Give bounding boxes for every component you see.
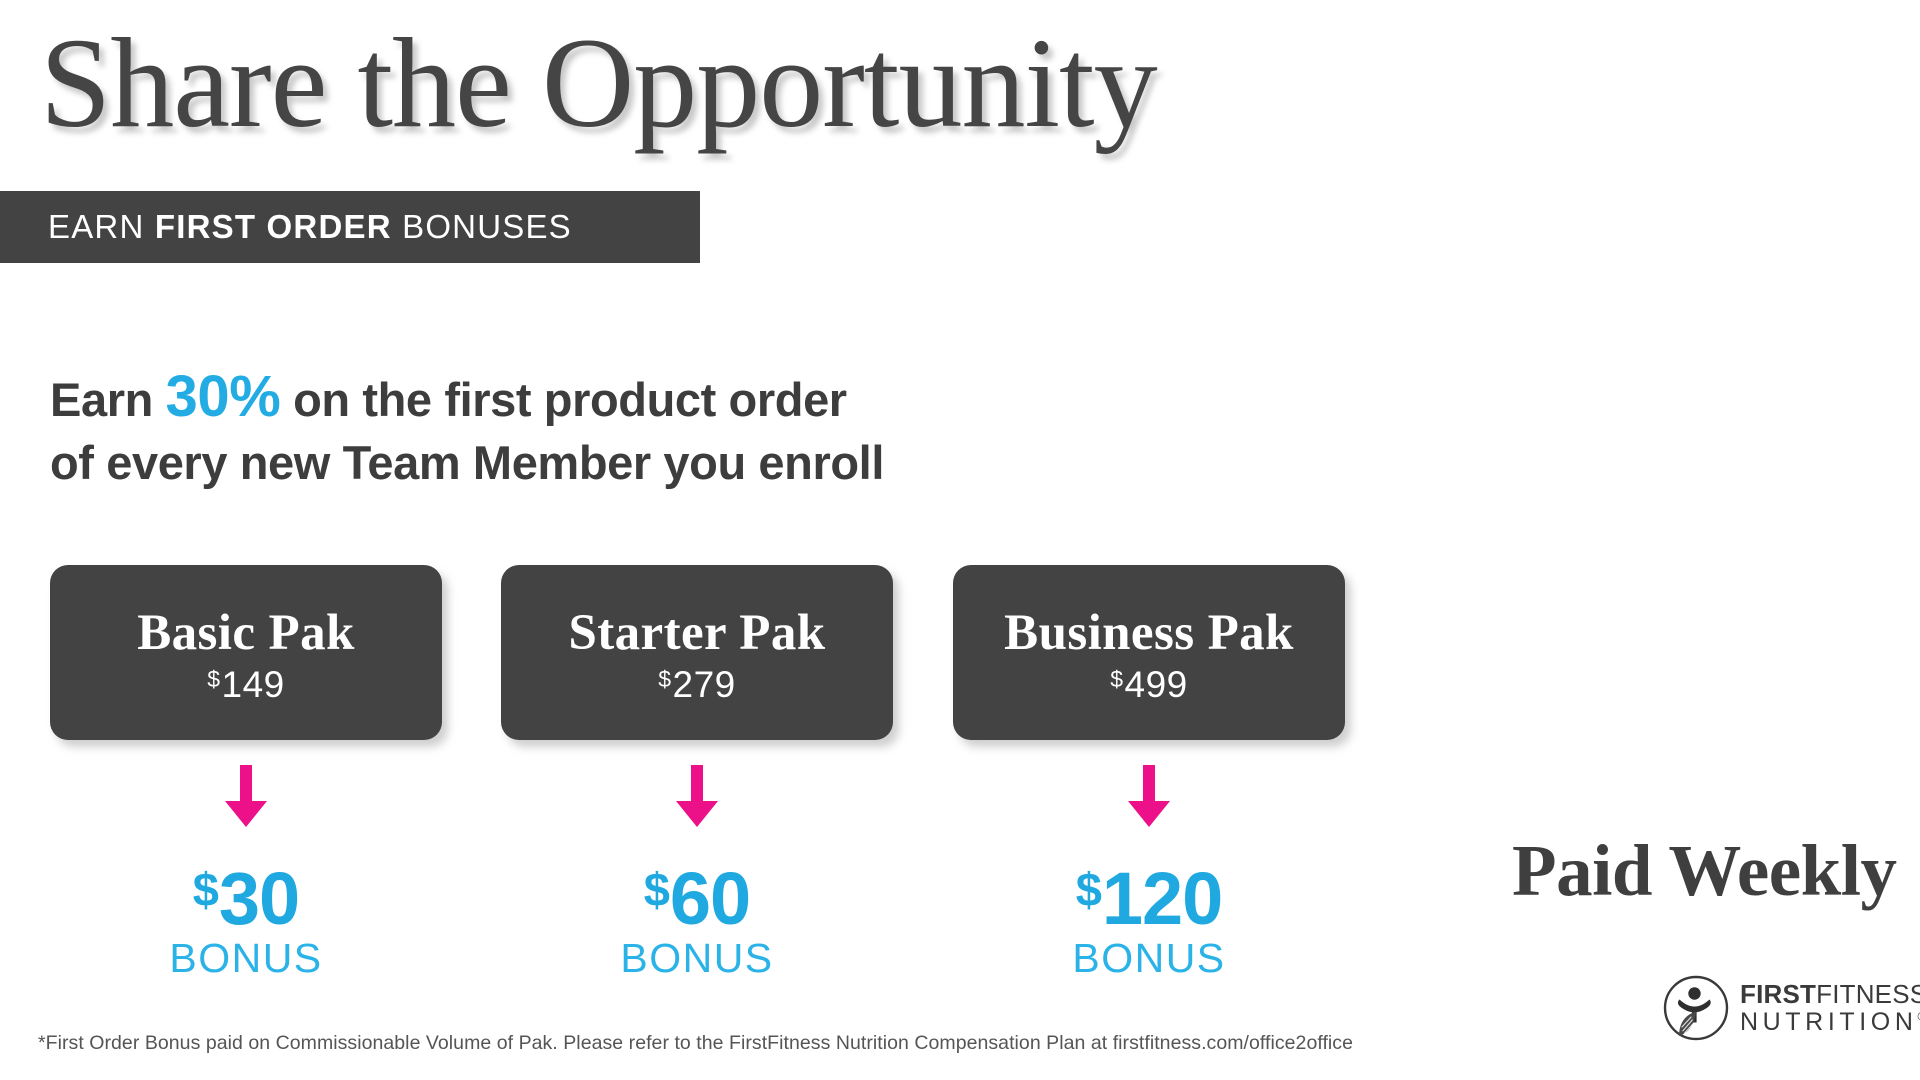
- bonus-value: 60: [670, 863, 750, 934]
- bonus-block: $60 BONUS: [501, 863, 893, 982]
- bonus-value: 30: [219, 863, 299, 934]
- pak-card[interactable]: Basic Pak $149: [50, 565, 442, 740]
- pak-card[interactable]: Starter Pak $279: [501, 565, 893, 740]
- ribbon-suffix: BONUSES: [392, 208, 572, 245]
- bonus-block: $120 BONUS: [953, 863, 1345, 982]
- headline-line1-prefix: Earn: [50, 373, 166, 426]
- page-title: Share the Opportunity: [40, 14, 1157, 152]
- pak-card[interactable]: Business Pak $499: [953, 565, 1345, 740]
- bonus-amount: $30: [193, 863, 299, 934]
- pak-price: $279: [658, 666, 736, 703]
- currency-symbol: $: [658, 668, 671, 691]
- bonus-amount: $60: [644, 863, 750, 934]
- headline-line1-suffix: on the first product order: [280, 373, 846, 426]
- down-arrow-icon: [501, 765, 893, 827]
- bonus-amount: $120: [1076, 863, 1223, 934]
- logo-first: FIRST: [1740, 979, 1816, 1009]
- bonus-currency-symbol: $: [1076, 866, 1101, 913]
- price-value: 279: [673, 666, 736, 703]
- headline: Earn 30% on the first product order of e…: [50, 360, 884, 492]
- price-value: 499: [1125, 666, 1188, 703]
- paid-weekly-text: Paid Weekly: [1512, 834, 1897, 907]
- pak-name: Business Pak: [1004, 608, 1294, 659]
- pak-comparison-group: Basic Pak $149 $30 BONUS Starter Pak: [50, 565, 1390, 740]
- currency-symbol: $: [1110, 668, 1123, 691]
- ribbon-prefix: EARN: [48, 208, 155, 245]
- pak-name: Starter Pak: [569, 608, 826, 659]
- bonus-label: BONUS: [50, 936, 442, 982]
- bonus-currency-symbol: $: [644, 866, 669, 913]
- slide-root: Share the Opportunity EARN FIRST ORDER B…: [0, 0, 1920, 1080]
- ribbon-label: EARN FIRST ORDER BONUSES: [0, 208, 572, 246]
- headline-percent-accent: 30%: [166, 364, 281, 429]
- down-arrow-icon: [50, 765, 442, 827]
- ribbon-emphasis: FIRST ORDER: [155, 208, 392, 245]
- bonus-currency-symbol: $: [193, 866, 218, 913]
- headline-line-2: of every new Team Member you enroll: [50, 433, 884, 492]
- logo-wordmark: FIRSTFITNESS NUTRITION®: [1740, 981, 1920, 1035]
- bonus-label: BONUS: [953, 936, 1345, 982]
- bonus-block: $30 BONUS: [50, 863, 442, 982]
- currency-symbol: $: [207, 668, 220, 691]
- logo-fitness: FITNESS: [1816, 979, 1920, 1009]
- bonus-label: BONUS: [501, 936, 893, 982]
- pak-column-business: Business Pak $499 $120 BONUS: [953, 565, 1345, 740]
- footnote-disclaimer: *First Order Bonus paid on Commissionabl…: [38, 1032, 1353, 1055]
- ribbon-banner: EARN FIRST ORDER BONUSES: [0, 191, 700, 263]
- pak-price: $149: [207, 666, 285, 703]
- down-arrow-icon: [953, 765, 1345, 827]
- pak-column-starter: Starter Pak $279 $60 BONUS: [501, 565, 893, 740]
- firstfitness-logo: FIRSTFITNESS NUTRITION®: [1663, 975, 1920, 1041]
- logo-nutrition: NUTRITION: [1740, 1008, 1918, 1036]
- pak-price: $499: [1110, 666, 1188, 703]
- logo-line-1: FIRSTFITNESS: [1740, 981, 1920, 1007]
- price-value: 149: [222, 666, 285, 703]
- firstfitness-figure-leaf-icon: [1663, 975, 1729, 1041]
- pak-column-basic: Basic Pak $149 $30 BONUS: [50, 565, 442, 740]
- bonus-value: 120: [1102, 863, 1222, 934]
- pak-name: Basic Pak: [137, 608, 355, 659]
- logo-line-2: NUTRITION®: [1740, 1010, 1920, 1035]
- headline-line-1: Earn 30% on the first product order: [50, 360, 884, 433]
